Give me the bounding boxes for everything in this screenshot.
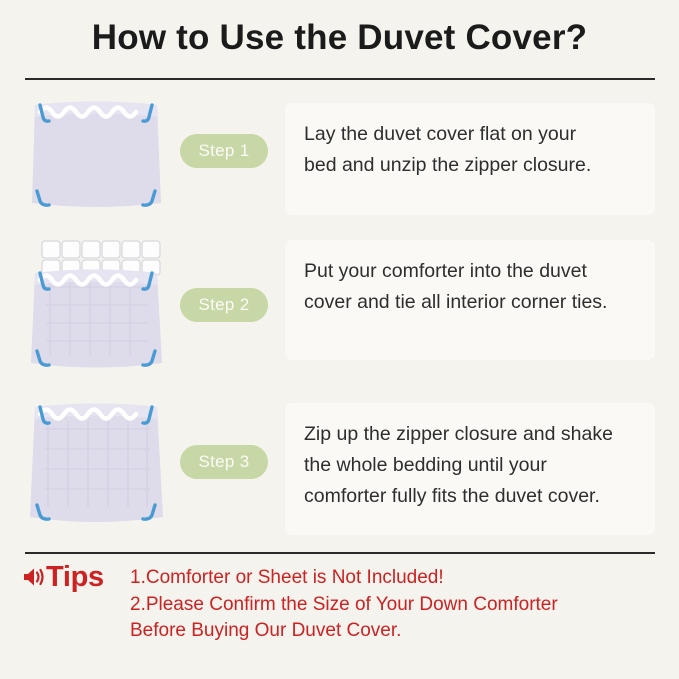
infographic-page: How to Use the Duvet Cover? Step 1 Lay t… [0, 0, 679, 679]
comforter-inserting-into-duvet-icon [26, 235, 166, 375]
page-title: How to Use the Duvet Cover? [0, 18, 679, 58]
divider-top [25, 78, 655, 80]
step-3-text-line-3: comforter fully fits the duvet cover. [304, 481, 637, 512]
step-row-1: Step 1 Lay the duvet cover flat on your … [0, 95, 679, 225]
step-row-2: Step 2 Put your comforter into the duvet… [0, 235, 679, 380]
tips-heading: Tips [46, 562, 104, 592]
step-row-3: Step 3 Zip up the zipper closure and sha… [0, 395, 679, 540]
tips-line-2: 2.Please Confirm the Size of Your Down C… [130, 592, 558, 619]
tips-list: 1.Comforter or Sheet is Not Included! 2.… [130, 565, 558, 645]
duvet-cover-flat-unzipped-icon [26, 95, 166, 215]
tips-section: Tips 1.Comforter or Sheet is Not Include… [22, 562, 662, 662]
step-3-text-line-1: Zip up the zipper closure and shake [304, 419, 637, 450]
duvet-cover-filled-zipped-icon [26, 395, 166, 530]
divider-bottom [25, 552, 655, 554]
step-3-card: Zip up the zipper closure and shake the … [285, 403, 655, 535]
tips-line-3: Before Buying Our Duvet Cover. [130, 618, 558, 645]
step-2-badge: Step 2 [180, 288, 268, 322]
speaker-icon [22, 565, 44, 589]
step-1-text-line-2: bed and unzip the zipper closure. [304, 150, 637, 181]
step-1-text-line-1: Lay the duvet cover flat on your [304, 119, 637, 150]
step-2-text-line-1: Put your comforter into the duvet [304, 256, 637, 287]
step-2-illustration [26, 235, 166, 380]
step-3-illustration [26, 395, 166, 540]
tips-line-1: 1.Comforter or Sheet is Not Included! [130, 565, 558, 592]
step-1-card: Lay the duvet cover flat on your bed and… [285, 103, 655, 215]
step-2-text-line-2: cover and tie all interior corner ties. [304, 287, 637, 318]
tips-heading-group: Tips [22, 562, 104, 592]
step-2-card: Put your comforter into the duvet cover … [285, 240, 655, 360]
step-1-illustration [26, 95, 166, 225]
step-3-text-line-2: the whole bedding until your [304, 450, 637, 481]
step-1-badge: Step 1 [180, 134, 268, 168]
step-3-badge: Step 3 [180, 445, 268, 479]
